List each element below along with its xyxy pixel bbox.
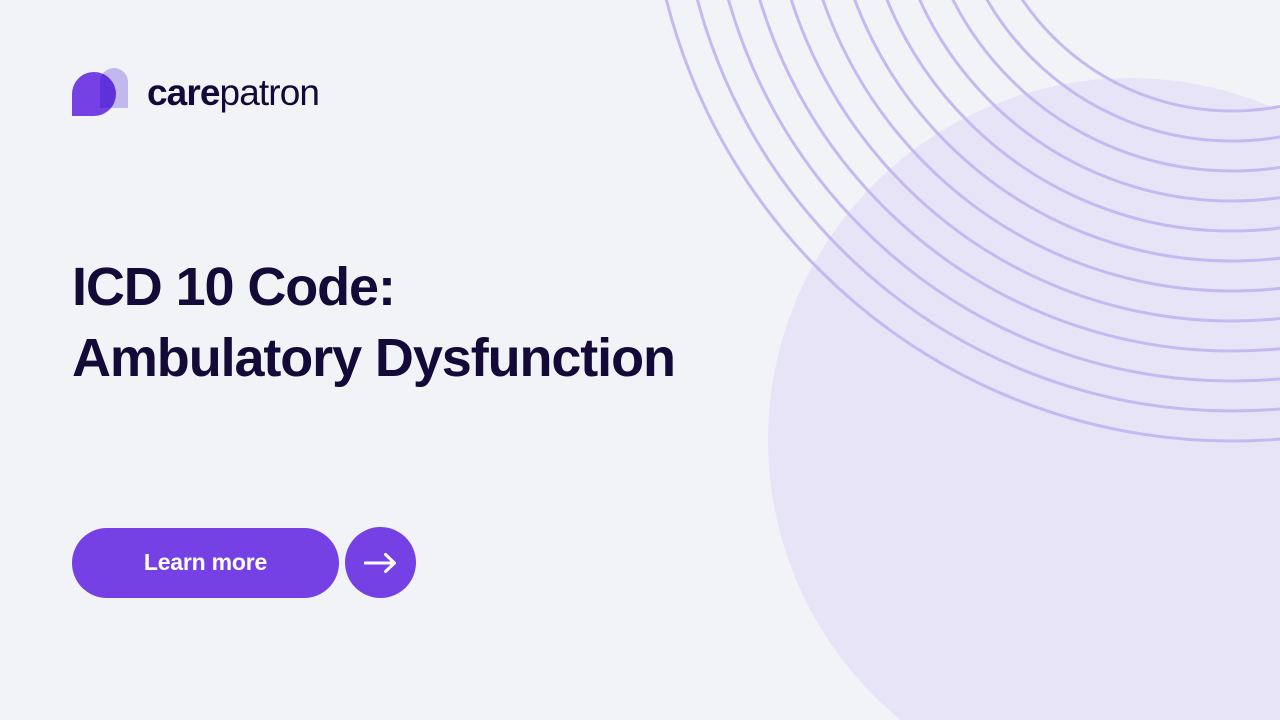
mark-arch-shape — [100, 68, 128, 108]
arrow-right-icon — [364, 552, 398, 574]
carepatron-mark-icon — [72, 68, 128, 116]
banner-root: carepatron ICD 10 Code: Ambulatory Dysfu… — [0, 0, 1280, 720]
background-blob — [768, 78, 1280, 720]
cta-group: Learn more — [72, 527, 416, 598]
brand-logo[interactable]: carepatron — [72, 66, 319, 118]
brand-wordmark: carepatron — [147, 74, 319, 111]
wordmark-regular: patron — [220, 72, 320, 113]
page-title: ICD 10 Code: Ambulatory Dysfunction — [72, 252, 772, 394]
arrow-right-button[interactable] — [345, 527, 416, 598]
page-title-line-1: ICD 10 Code: — [72, 252, 772, 323]
wordmark-bold: care — [147, 72, 220, 113]
learn-more-button[interactable]: Learn more — [72, 528, 339, 598]
page-title-line-2: Ambulatory Dysfunction — [72, 323, 772, 394]
